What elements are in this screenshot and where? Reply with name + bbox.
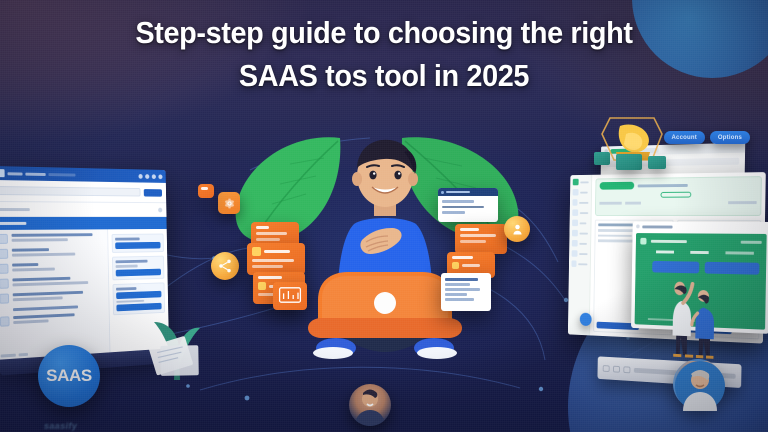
top-pill-buttons[interactable]: Account Options: [664, 131, 750, 144]
pill-button-account[interactable]: Account: [664, 131, 705, 144]
title-line-2: SAAS tos tool in 2025: [59, 55, 710, 98]
pill-button-options[interactable]: Options: [710, 131, 750, 144]
title-line-1: Step-step guide to choosing the right: [59, 12, 710, 55]
page-title: Step-step guide to choosing the right SA…: [0, 12, 768, 98]
banner-stage: Account Options: [0, 0, 768, 432]
